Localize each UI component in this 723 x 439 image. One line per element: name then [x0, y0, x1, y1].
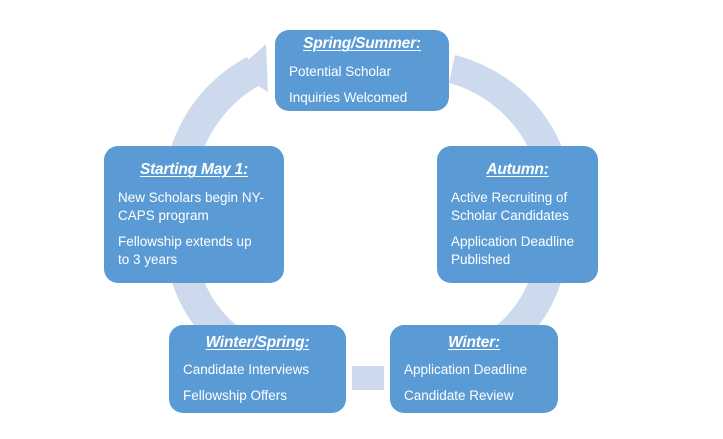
- node-line: Fellowship Offers: [183, 387, 332, 405]
- node-line: Published: [451, 251, 584, 269]
- node-title-starting-may-1: Starting May 1:: [118, 160, 270, 179]
- node-line: to 3 years: [118, 251, 270, 269]
- node-line: Inquiries Welcomed: [289, 89, 435, 107]
- node-line: Potential Scholar: [289, 63, 435, 81]
- node-line: Application Deadline: [451, 233, 584, 251]
- node-line: Scholar Candidates: [451, 207, 584, 225]
- cycle-node-autumn[interactable]: Autumn: Active Recruiting of Scholar Can…: [437, 146, 598, 283]
- node-line: Application Deadline: [404, 361, 544, 379]
- cycle-node-spring-summer[interactable]: Spring/Summer: Potential Scholar Inquiri…: [275, 30, 449, 111]
- node-line: Fellowship extends up: [118, 233, 270, 251]
- arc-winter-to-winter-spring-icon: [352, 366, 384, 390]
- node-line: Active Recruiting of: [451, 189, 584, 207]
- cycle-node-winter-spring[interactable]: Winter/Spring: Candidate Interviews Fell…: [169, 325, 346, 413]
- node-title-winter-spring: Winter/Spring:: [183, 333, 332, 352]
- node-line: Candidate Review: [404, 387, 544, 405]
- node-title-spring-summer: Spring/Summer:: [289, 34, 435, 53]
- node-title-autumn: Autumn:: [451, 160, 584, 179]
- cycle-diagram-canvas: Spring/Summer: Potential Scholar Inquiri…: [0, 0, 723, 439]
- node-line: Candidate Interviews: [183, 361, 332, 379]
- node-line: CAPS program: [118, 207, 270, 225]
- cycle-node-starting-may-1[interactable]: Starting May 1: New Scholars begin NY- C…: [104, 146, 284, 283]
- cycle-node-winter[interactable]: Winter: Application Deadline Candidate R…: [390, 325, 558, 413]
- node-title-winter: Winter:: [404, 333, 544, 352]
- node-line: New Scholars begin NY-: [118, 189, 270, 207]
